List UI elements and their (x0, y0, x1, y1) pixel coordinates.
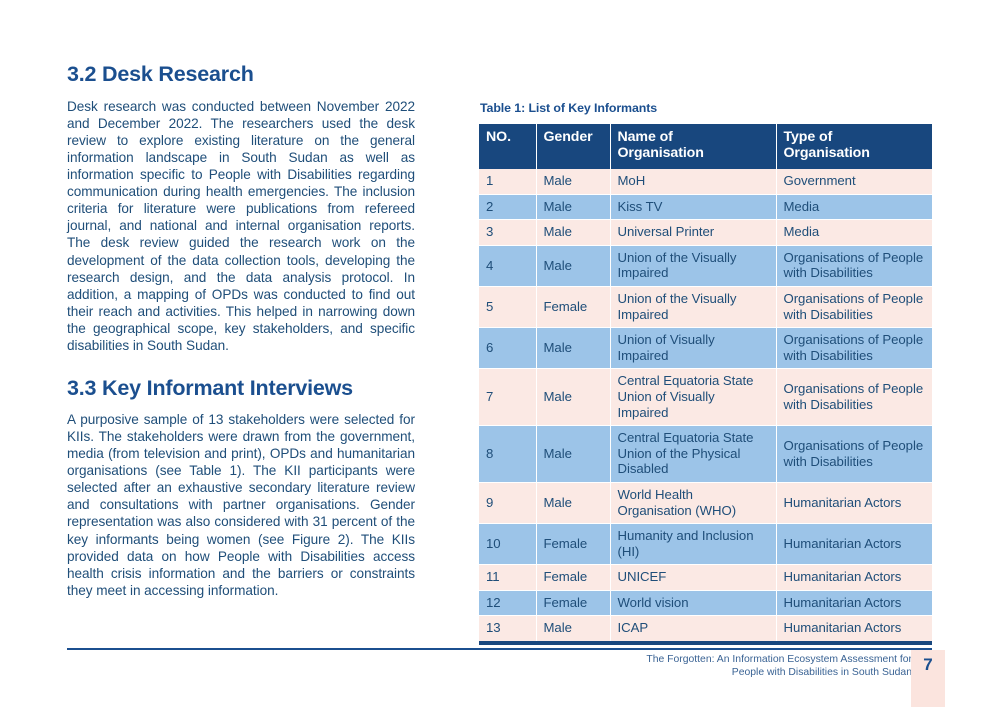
column-header-type-line1: Type of (784, 129, 833, 145)
section-heading-3-2: 3.2 Desk Research (67, 62, 415, 87)
table-row: 9MaleWorld Health Organisation (WHO)Huma… (479, 482, 932, 523)
table-row: 10FemaleHumanity and Inclusion (HI)Human… (479, 524, 932, 565)
cell-organisation: MoH (610, 169, 776, 194)
cell-type: Media (776, 194, 932, 220)
cell-no: 7 (479, 369, 536, 426)
column-header-name-line2: Organisation (618, 145, 704, 161)
cell-organisation: Union of the Visually Impaired (610, 286, 776, 327)
cell-gender: Male (536, 369, 610, 426)
cell-type: Media (776, 220, 932, 246)
column-header-gender-line1: Gender (544, 129, 593, 145)
cell-no: 12 (479, 590, 536, 616)
cell-type: Humanitarian Actors (776, 590, 932, 616)
column-header-name-line1: Name of (618, 129, 673, 145)
cell-no: 10 (479, 524, 536, 565)
cell-organisation: Central Equatoria State Union of the Phy… (610, 426, 776, 483)
column-header-organisation-name: Name of Organisation (610, 124, 776, 169)
cell-organisation: Kiss TV (610, 194, 776, 220)
cell-organisation: Union of Visually Impaired (610, 328, 776, 369)
cell-type: Organisations of People with Disabilitie… (776, 286, 932, 327)
table-row: 11FemaleUNICEFHumanitarian Actors (479, 565, 932, 591)
key-informants-table: NO. Gender Name of Organisation Type of … (479, 124, 932, 645)
table-row: 13MaleICAPHumanitarian Actors (479, 616, 932, 643)
section-heading-3-3: 3.3 Key Informant Interviews (67, 376, 415, 401)
cell-organisation: Humanity and Inclusion (HI) (610, 524, 776, 565)
section-body-3-2: Desk research was conducted between Nove… (67, 98, 415, 354)
cell-type: Humanitarian Actors (776, 616, 932, 643)
cell-gender: Female (536, 590, 610, 616)
cell-no: 9 (479, 482, 536, 523)
table-row: 2MaleKiss TVMedia (479, 194, 932, 220)
cell-no: 2 (479, 194, 536, 220)
cell-no: 5 (479, 286, 536, 327)
cell-gender: Male (536, 194, 610, 220)
cell-gender: Female (536, 565, 610, 591)
column-header-organisation-type: Type of Organisation (776, 124, 932, 169)
table-row: 1MaleMoHGovernment (479, 169, 932, 194)
cell-gender: Female (536, 524, 610, 565)
page-number: 7 (911, 655, 945, 675)
cell-gender: Male (536, 426, 610, 483)
document-page: 3.2 Desk Research Desk research was cond… (0, 0, 1000, 707)
table-row: 8MaleCentral Equatoria State Union of th… (479, 426, 932, 483)
cell-type: Organisations of People with Disabilitie… (776, 245, 932, 286)
table-row: 5FemaleUnion of the Visually ImpairedOrg… (479, 286, 932, 327)
cell-no: 13 (479, 616, 536, 643)
cell-organisation: World vision (610, 590, 776, 616)
table-row: 3MaleUniversal PrinterMedia (479, 220, 932, 246)
cell-gender: Male (536, 169, 610, 194)
cell-organisation: World Health Organisation (WHO) (610, 482, 776, 523)
cell-organisation: Central Equatoria State Union of Visuall… (610, 369, 776, 426)
cell-type: Humanitarian Actors (776, 482, 932, 523)
cell-gender: Male (536, 328, 610, 369)
left-text-column: 3.2 Desk Research Desk research was cond… (67, 62, 415, 599)
cell-organisation: UNICEF (610, 565, 776, 591)
cell-gender: Male (536, 482, 610, 523)
cell-organisation: ICAP (610, 616, 776, 643)
footer-title-line1: The Forgotten: An Information Ecosystem … (646, 654, 912, 665)
cell-no: 6 (479, 328, 536, 369)
table-row: 4MaleUnion of the Visually ImpairedOrgan… (479, 245, 932, 286)
cell-no: 4 (479, 245, 536, 286)
cell-type: Government (776, 169, 932, 194)
cell-type: Humanitarian Actors (776, 565, 932, 591)
cell-gender: Male (536, 616, 610, 643)
column-header-gender: Gender (536, 124, 610, 169)
column-header-no-line1: NO. (486, 129, 511, 145)
cell-gender: Female (536, 286, 610, 327)
section-body-3-3: A purposive sample of 13 stakeholders we… (67, 411, 415, 599)
footer-divider (67, 648, 932, 650)
table-caption: Table 1: List of Key Informants (480, 101, 932, 115)
cell-organisation: Universal Printer (610, 220, 776, 246)
cell-no: 1 (479, 169, 536, 194)
cell-gender: Male (536, 245, 610, 286)
cell-type: Organisations of People with Disabilitie… (776, 369, 932, 426)
right-table-column: Table 1: List of Key Informants NO. Gend… (479, 101, 932, 645)
column-header-no: NO. (479, 124, 536, 169)
cell-no: 3 (479, 220, 536, 246)
table-body: 1MaleMoHGovernment2MaleKiss TVMedia3Male… (479, 169, 932, 643)
table-row: 7MaleCentral Equatoria State Union of Vi… (479, 369, 932, 426)
cell-type: Organisations of People with Disabilitie… (776, 328, 932, 369)
table-row: 12FemaleWorld visionHumanitarian Actors (479, 590, 932, 616)
cell-type: Humanitarian Actors (776, 524, 932, 565)
footer-title-line2: People with Disabilities in South Sudan (732, 667, 912, 678)
table-header-row: NO. Gender Name of Organisation Type of … (479, 124, 932, 169)
cell-gender: Male (536, 220, 610, 246)
cell-no: 8 (479, 426, 536, 483)
cell-type: Organisations of People with Disabilitie… (776, 426, 932, 483)
table-header: NO. Gender Name of Organisation Type of … (479, 124, 932, 169)
cell-no: 11 (479, 565, 536, 591)
cell-organisation: Union of the Visually Impaired (610, 245, 776, 286)
footer-report-title: The Forgotten: An Information Ecosystem … (492, 653, 912, 680)
table-row: 6MaleUnion of Visually ImpairedOrganisat… (479, 328, 932, 369)
column-header-type-line2: Organisation (784, 145, 870, 161)
